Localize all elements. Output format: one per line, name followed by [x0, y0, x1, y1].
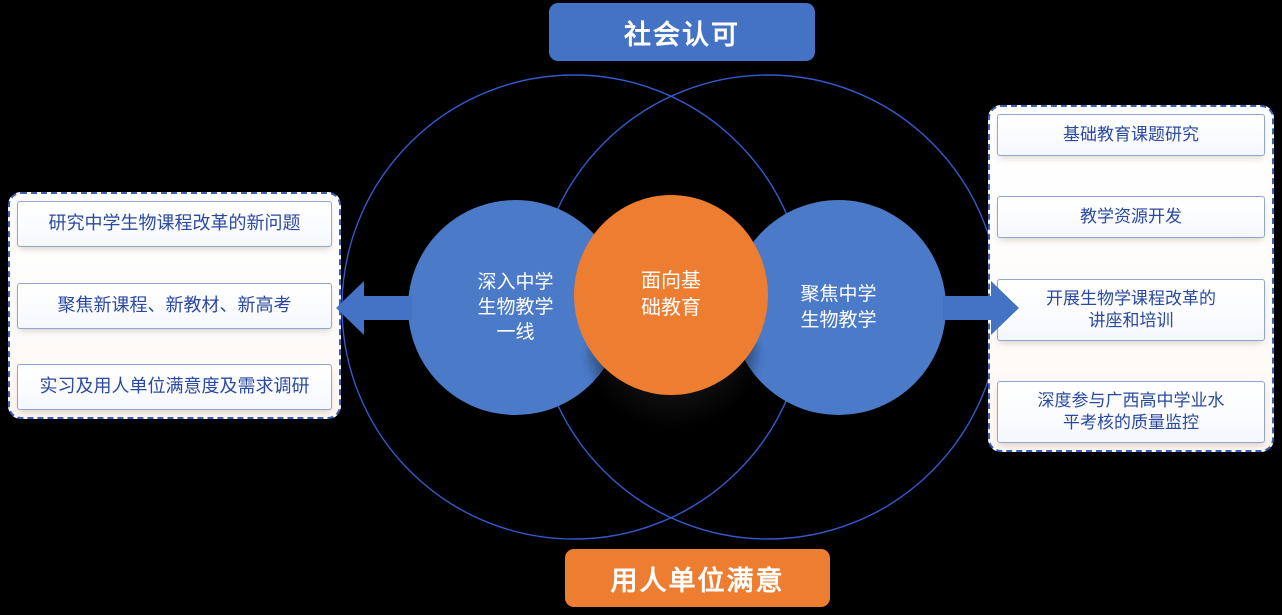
diagram-canvas: 社会认可 用人单位满意 深入中学 生物教学 一线 聚焦中学 生物教学 面向基 础… — [0, 0, 1282, 615]
banner-social-recognition[interactable]: 社会认可 — [549, 3, 815, 61]
banner-top-label: 社会认可 — [624, 13, 740, 52]
panel-right-item-1-label: 教学资源开发 — [1080, 206, 1182, 228]
panel-right: 基础教育课题研究 教学资源开发 开展生物学课程改革的 讲座和培训 深度参与广西高… — [988, 105, 1274, 452]
panel-left-item-2-label: 实习及用人单位满意度及需求调研 — [40, 375, 310, 398]
panel-right-item-2-label: 开展生物学课程改革的 讲座和培训 — [1046, 288, 1216, 332]
core-circle-center-label: 面向基 础教育 — [625, 268, 717, 321]
banner-employer-satisfaction[interactable]: 用人单位满意 — [565, 549, 830, 607]
core-circle-left-line2: 生物教学 — [477, 297, 553, 318]
core-circle-center[interactable]: 面向基 础教育 — [574, 195, 768, 395]
panel-right-item-3[interactable]: 深度参与广西高中学业水 平考核的质量监控 — [997, 381, 1265, 443]
panel-left-item-0[interactable]: 研究中学生物课程改革的新问题 — [17, 201, 332, 247]
panel-left: 研究中学生物课程改革的新问题 聚焦新课程、新教材、新高考 实习及用人单位满意度及… — [8, 192, 341, 419]
panel-right-item-2-line1: 开展生物学课程改革的 — [1046, 289, 1216, 308]
core-circle-center-line2: 础教育 — [641, 297, 701, 319]
panel-right-item-0-label: 基础教育课题研究 — [1063, 124, 1199, 146]
core-circle-left-line1: 深入中学 — [477, 272, 553, 293]
core-circle-center-line1: 面向基 — [641, 270, 701, 292]
panel-right-item-1[interactable]: 教学资源开发 — [997, 196, 1265, 238]
core-circle-right-label: 聚焦中学 生物教学 — [784, 282, 892, 333]
banner-bottom-label: 用人单位满意 — [611, 559, 785, 598]
panel-right-item-0[interactable]: 基础教育课题研究 — [997, 114, 1265, 156]
arrow-left-icon — [334, 279, 412, 337]
panel-right-item-3-line1: 深度参与广西高中学业水 — [1038, 391, 1225, 410]
panel-left-item-1[interactable]: 聚焦新课程、新教材、新高考 — [17, 283, 332, 329]
core-circle-left-label: 深入中学 生物教学 一线 — [461, 270, 569, 346]
panel-right-item-3-label: 深度参与广西高中学业水 平考核的质量监控 — [1038, 390, 1225, 434]
panel-right-item-2-line2: 讲座和培训 — [1089, 311, 1174, 330]
core-circle-right-line2: 生物教学 — [800, 310, 876, 331]
panel-left-item-0-label: 研究中学生物课程改革的新问题 — [49, 212, 301, 235]
panel-right-item-2[interactable]: 开展生物学课程改革的 讲座和培训 — [997, 279, 1265, 341]
panel-left-item-1-label: 聚焦新课程、新教材、新高考 — [58, 294, 292, 317]
core-circle-left-line3: 一线 — [496, 322, 534, 343]
core-circle-right-line1: 聚焦中学 — [800, 284, 876, 305]
panel-left-item-2[interactable]: 实习及用人单位满意度及需求调研 — [17, 364, 332, 410]
panel-right-item-3-line2: 平考核的质量监控 — [1063, 413, 1199, 432]
arrow-right-icon — [943, 279, 1021, 337]
